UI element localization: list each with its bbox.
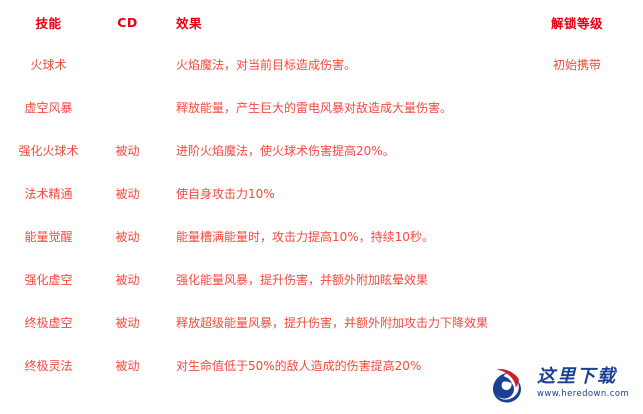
skill-table: 技能 CD 效果 解锁等级 火球术 火焰魔法，对当前目标造成伤害。 初始携带 虚… bbox=[0, 0, 643, 388]
watermark-url: www.heredown.com bbox=[537, 390, 629, 399]
table-row: 终极虚空 被动 释放超级能量风暴，提升伤害，并额外附加攻击力下降效果 bbox=[0, 302, 643, 345]
cell-skill: 强化虚空 bbox=[0, 259, 97, 302]
cell-cd: 被动 bbox=[97, 302, 158, 345]
cell-effect: 能量槽满能量时，攻击力提高10%，持续10秒。 bbox=[158, 216, 511, 259]
cell-cd: 被动 bbox=[97, 259, 158, 302]
cell-skill: 强化火球术 bbox=[0, 130, 97, 173]
cell-unlock bbox=[511, 87, 643, 130]
cell-skill: 终极灵法 bbox=[0, 345, 97, 388]
cell-unlock bbox=[511, 216, 643, 259]
table-row: 能量觉醒 被动 能量槽满能量时，攻击力提高10%，持续10秒。 bbox=[0, 216, 643, 259]
cell-cd bbox=[97, 87, 158, 130]
cell-unlock bbox=[511, 302, 643, 345]
cell-cd: 被动 bbox=[97, 216, 158, 259]
column-header-effect: 效果 bbox=[158, 0, 511, 44]
column-header-skill: 技能 bbox=[0, 0, 97, 44]
table-row: 虚空风暴 释放能量，产生巨大的雷电风暴对敌造成大量伤害。 bbox=[0, 87, 643, 130]
table-row: 火球术 火焰魔法，对当前目标造成伤害。 初始携带 bbox=[0, 44, 643, 87]
cell-effect: 释放超级能量风暴，提升伤害，并额外附加攻击力下降效果 bbox=[158, 302, 511, 345]
cell-effect: 火焰魔法，对当前目标造成伤害。 bbox=[158, 44, 511, 87]
table-header-row: 技能 CD 效果 解锁等级 bbox=[0, 0, 643, 44]
cell-skill: 终极虚空 bbox=[0, 302, 97, 345]
table-row: 强化火球术 被动 进阶火焰魔法，使火球术伤害提高20%。 bbox=[0, 130, 643, 173]
cell-effect: 使自身攻击力10% bbox=[158, 173, 511, 216]
column-header-unlock: 解锁等级 bbox=[511, 0, 643, 44]
cell-effect: 强化能量风暴，提升伤害，并额外附加眩晕效果 bbox=[158, 259, 511, 302]
table-row: 强化虚空 被动 强化能量风暴，提升伤害，并额外附加眩晕效果 bbox=[0, 259, 643, 302]
site-watermark: 这里下载 www.heredown.com bbox=[487, 360, 635, 406]
cell-effect: 释放能量，产生巨大的雷电风暴对敌造成大量伤害。 bbox=[158, 87, 511, 130]
column-header-cd: CD bbox=[97, 0, 158, 44]
cell-skill: 能量觉醒 bbox=[0, 216, 97, 259]
cell-unlock bbox=[511, 259, 643, 302]
cell-cd: 被动 bbox=[97, 173, 158, 216]
table-header: 技能 CD 效果 解锁等级 bbox=[0, 0, 643, 44]
cell-effect: 进阶火焰魔法，使火球术伤害提高20%。 bbox=[158, 130, 511, 173]
watermark-title: 这里下载 bbox=[537, 368, 629, 386]
table-body: 火球术 火焰魔法，对当前目标造成伤害。 初始携带 虚空风暴 释放能量，产生巨大的… bbox=[0, 44, 643, 388]
cell-skill: 法术精通 bbox=[0, 173, 97, 216]
cell-cd bbox=[97, 44, 158, 87]
cell-cd: 被动 bbox=[97, 130, 158, 173]
cell-skill: 火球术 bbox=[0, 44, 97, 87]
table-row: 法术精通 被动 使自身攻击力10% bbox=[0, 173, 643, 216]
cell-unlock bbox=[511, 173, 643, 216]
cell-unlock bbox=[511, 130, 643, 173]
heredown-logo-icon bbox=[487, 362, 533, 404]
cell-effect: 对生命值低于50%的敌人造成的伤害提高20% bbox=[158, 345, 511, 388]
watermark-text: 这里下载 www.heredown.com bbox=[537, 368, 629, 399]
cell-unlock: 初始携带 bbox=[511, 44, 643, 87]
cell-cd: 被动 bbox=[97, 345, 158, 388]
cell-skill: 虚空风暴 bbox=[0, 87, 97, 130]
